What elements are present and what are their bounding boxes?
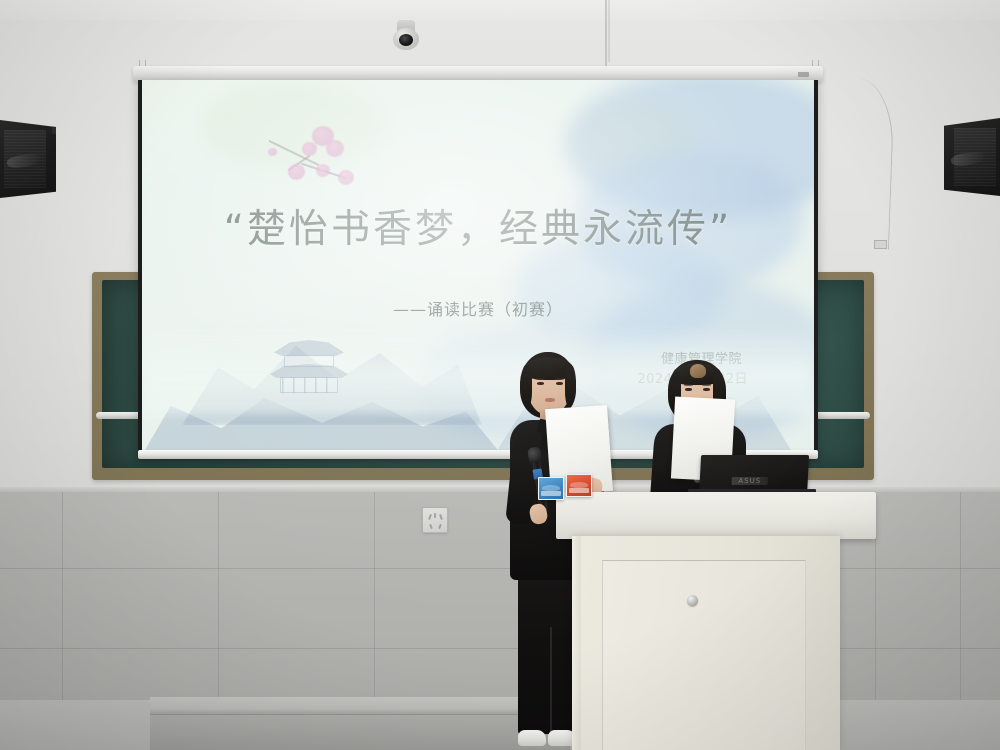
podium-edge [572, 536, 581, 750]
eye [537, 382, 544, 385]
eyebrow [702, 384, 711, 386]
trouser-seam [550, 627, 552, 732]
pavilion-pillars [282, 377, 336, 393]
camera-lens [399, 34, 413, 46]
dome-camera-icon [391, 20, 421, 54]
mouth [545, 398, 555, 402]
ceiling-band [0, 0, 1000, 20]
eyebrow [536, 378, 545, 380]
pavilion-roof [274, 340, 344, 356]
wall-socket-icon[interactable] [422, 507, 448, 533]
blossom-petal [288, 164, 305, 180]
podium-top [556, 492, 876, 539]
socket-slot [438, 524, 442, 529]
speaker-left [0, 120, 56, 198]
eyebrow [684, 384, 693, 386]
presenter-left-hair-side [565, 365, 576, 407]
presenter-right-hair-highlight [690, 364, 706, 378]
display-card-blue [538, 477, 564, 500]
presenter-left-shoe [518, 730, 546, 746]
laptop-brand-logo: ASUS [732, 477, 768, 485]
screen-control-button[interactable] [798, 72, 809, 77]
socket-slot [429, 524, 433, 529]
eye [703, 388, 710, 391]
blossom-petal [268, 148, 277, 156]
eye [685, 388, 692, 391]
presenter-left-hair-side [521, 365, 532, 407]
speaker-right [944, 118, 1000, 196]
blossom-petal [316, 164, 330, 177]
card-label-strip [541, 491, 561, 496]
socket-slot [434, 513, 436, 518]
podium-door-panel[interactable] [602, 560, 806, 750]
eyebrow [555, 378, 564, 380]
display-card-red [566, 474, 592, 497]
card-label-strip [569, 488, 589, 493]
wall-seam [608, 0, 610, 62]
slide-subtitle: ——诵读比赛（初赛） [142, 296, 814, 320]
socket-slot [439, 514, 443, 520]
chinese-pavilion-icon [270, 338, 348, 402]
eye [556, 382, 563, 385]
wall-seam [605, 0, 607, 70]
cherry-blossom-icon [260, 118, 370, 196]
blossom-petal [302, 142, 317, 156]
blossom-petal [326, 140, 344, 157]
socket-slot [428, 514, 432, 520]
pavilion-lower-roof [270, 364, 348, 378]
lecture-hall-scene: “楚怡书香梦，经典永流传” ——诵读比赛（初赛） 健康管理学院 2024年11月… [0, 0, 1000, 750]
slide-title: “楚怡书香梦，经典永流传” [142, 198, 814, 254]
blossom-petal [338, 170, 354, 185]
podium-lock-icon[interactable] [687, 595, 698, 606]
